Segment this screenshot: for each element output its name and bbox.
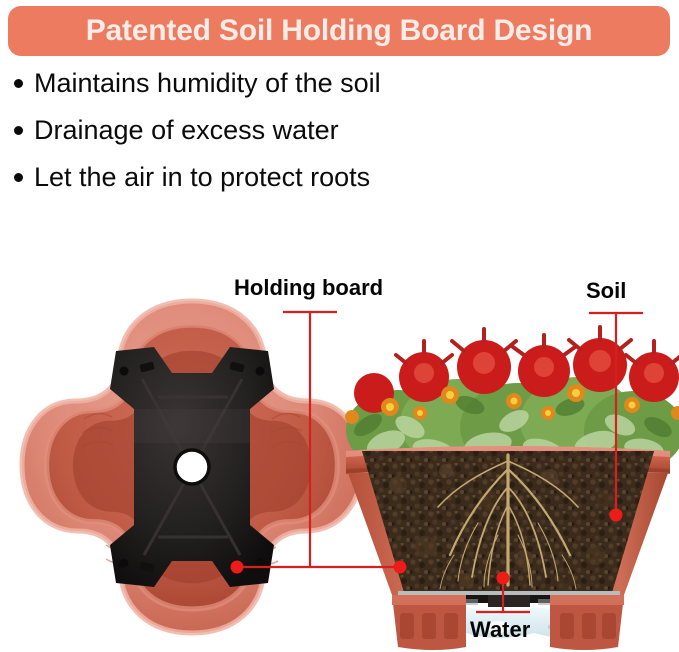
feature-text: Drainage of excess water	[34, 117, 339, 144]
list-item: Drainage of excess water	[14, 117, 634, 164]
feature-list: Maintains humidity of the soil Drainage …	[14, 70, 634, 211]
callout-label-water: Water	[470, 619, 530, 641]
marker-holding-board-section	[394, 561, 407, 574]
bullet-icon	[14, 126, 23, 135]
bullet-icon	[14, 173, 23, 182]
marker-water	[497, 572, 510, 585]
bullet-icon	[14, 79, 23, 88]
list-item: Maintains humidity of the soil	[14, 70, 634, 117]
page-title: Patented Soil Holding Board Design	[86, 16, 593, 46]
feature-text: Maintains humidity of the soil	[34, 70, 381, 97]
feature-text: Let the air in to protect roots	[34, 164, 370, 191]
marker-holding-board-topview	[231, 561, 244, 574]
header-banner: Patented Soil Holding Board Design	[8, 6, 670, 56]
product-diagram	[0, 255, 679, 652]
cross-section-planter	[345, 327, 679, 650]
callout-label-holding-board: Holding board	[234, 277, 383, 299]
callout-label-soil: Soil	[586, 280, 626, 302]
list-item: Let the air in to protect roots	[14, 164, 634, 211]
marker-soil	[610, 509, 623, 522]
holding-board-insert	[110, 347, 274, 587]
